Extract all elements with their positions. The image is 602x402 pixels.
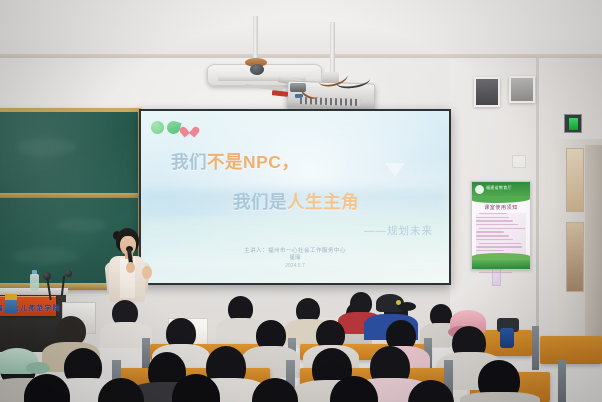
exit-sign-green-figure-icon <box>569 118 578 130</box>
poster-text-line <box>479 243 521 244</box>
cap-button-detail <box>396 300 401 305</box>
poster-text-line <box>476 231 504 232</box>
presenter-hand-left <box>126 262 135 273</box>
student-shoulders-r2-6 <box>460 392 540 402</box>
poster-body-text <box>476 213 526 255</box>
slide-presenter-block: 主讲人：福州市一心社会工作服务中心 星瑞 2024.5.7 <box>141 247 449 270</box>
slide-headline-line1-a: 我们 <box>171 152 207 172</box>
poster-text-line <box>476 217 509 218</box>
mint-cap-brim-icon <box>26 362 50 374</box>
water-bottle <box>30 274 39 291</box>
poster-text-line <box>479 213 507 214</box>
blackboard-divider-rail <box>0 193 141 198</box>
projected-slide: 我们不是NPC， 我们是人生主角 ——规划未来 主讲人：福州市一心社会工作服务中… <box>141 111 449 283</box>
presenter-hand-right <box>142 266 152 279</box>
poster-header-text: 福建省教育厅 <box>486 185 512 191</box>
slide-presenter-name: 星瑞 <box>141 255 449 263</box>
backpack-blue <box>500 328 514 348</box>
empty-seat-right-2 <box>540 336 602 364</box>
wall-speaker-icon <box>509 76 535 103</box>
slide-headline-line1: 我们不是NPC， <box>171 149 299 174</box>
desk-microphone-head-icon-2 <box>65 270 72 277</box>
notice-poster: 福建省教育厅 课室使用须知 <box>471 181 531 270</box>
poster-text-line <box>476 246 522 247</box>
slide-presenter-org: 主讲人：福州市一心社会工作服务中心 <box>141 247 449 255</box>
poster-text-line <box>476 235 509 236</box>
green-circle-mark-icon <box>151 121 164 134</box>
poster-emblem-icon <box>475 185 484 194</box>
poster-title: 课室使用须知 <box>472 204 530 211</box>
wall-corner-edge <box>536 58 539 358</box>
wall-panel-dark <box>474 77 500 107</box>
poster-text-line <box>476 224 518 225</box>
slide-logo <box>151 121 197 134</box>
slide-triangle-deco <box>385 163 405 177</box>
seat-frame-right-3 <box>558 360 566 402</box>
poster-text-line <box>476 250 504 251</box>
slide-headline-line2-b: 人生主角 <box>287 192 359 212</box>
seat-frame-right-2 <box>532 326 539 370</box>
slide-date: 2024.5.7 <box>141 263 449 270</box>
slide-headline-line2-a: 我们是 <box>233 192 287 212</box>
pink-heart-mark-icon <box>183 121 197 134</box>
projector-pivot-joint <box>250 64 264 75</box>
poster-text-line <box>476 239 513 240</box>
poster-text-line <box>476 220 513 221</box>
slide-headline-line1-b: 不是NPC， <box>207 152 299 172</box>
slide-headline-line2: 我们是人生主角 <box>233 189 359 214</box>
door-glass-upper <box>566 148 584 212</box>
wall-outlet-plate <box>512 155 526 168</box>
door-panel <box>585 145 602 350</box>
ceiling <box>0 0 602 58</box>
poster-text-line <box>479 228 525 229</box>
podium-blue-box <box>5 300 17 313</box>
exit-sign <box>564 114 582 133</box>
classroom-photo: 我们不是NPC， 我们是人生主角 ——规划未来 主讲人：福州市一心社会工作服务中… <box>0 0 602 402</box>
door-glass-lower <box>566 222 584 292</box>
poster-header-band: 福建省教育厅 <box>472 182 530 198</box>
slide-subtitle: ——规划未来 <box>364 223 433 238</box>
projection-screen: 我们不是NPC， 我们是人生主角 ——规划未来 主讲人：福州市一心社会工作服务中… <box>139 109 451 285</box>
poster-footer-band <box>472 258 530 269</box>
